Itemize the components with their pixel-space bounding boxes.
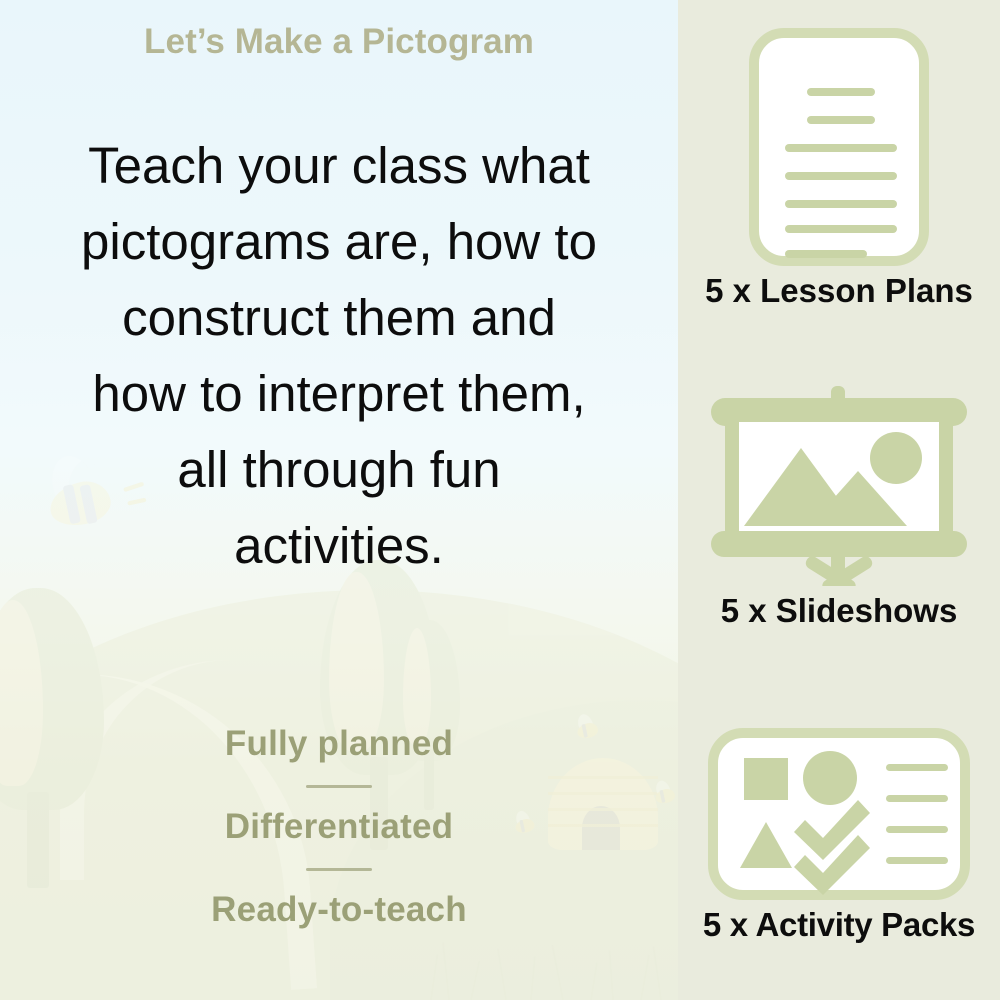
deliverable-lesson-plans: 5 x Lesson Plans [678, 28, 1000, 310]
document-icon [678, 28, 1000, 266]
body-line: Teach your class what [24, 128, 654, 204]
feature-divider [306, 785, 372, 788]
deliverable-label: 5 x Lesson Plans [678, 272, 1000, 310]
promo-poster: Let’s Make a Pictogram Teach your class … [0, 0, 1000, 1000]
presentation-screen-icon [678, 386, 1000, 586]
deliverable-label: 5 x Activity Packs [678, 906, 1000, 944]
feature-list: Fully planned Differentiated Ready-to-te… [0, 725, 678, 928]
feature-item-ready-to-teach: Ready-to-teach [0, 891, 678, 929]
body-line: activities. [24, 508, 654, 584]
body-copy: Teach your class what pictograms are, ho… [24, 128, 654, 584]
deliverable-activity-packs: 5 x Activity Packs [678, 728, 1000, 944]
feature-divider [306, 868, 372, 871]
body-line: how to interpret them, [24, 356, 654, 432]
deliverable-slideshows: 5 x Slideshows [678, 386, 1000, 630]
body-line: all through fun [24, 432, 654, 508]
feature-item-differentiated: Differentiated [0, 808, 678, 846]
right-panel: 5 x Lesson Plans [678, 0, 1000, 1000]
page-title: Let’s Make a Pictogram [0, 22, 678, 62]
left-panel: Let’s Make a Pictogram Teach your class … [0, 0, 678, 1000]
activity-card-icon [678, 728, 1000, 900]
deliverable-label: 5 x Slideshows [678, 592, 1000, 630]
body-line: pictograms are, how to [24, 204, 654, 280]
feature-item-fully-planned: Fully planned [0, 725, 678, 763]
body-line: construct them and [24, 280, 654, 356]
